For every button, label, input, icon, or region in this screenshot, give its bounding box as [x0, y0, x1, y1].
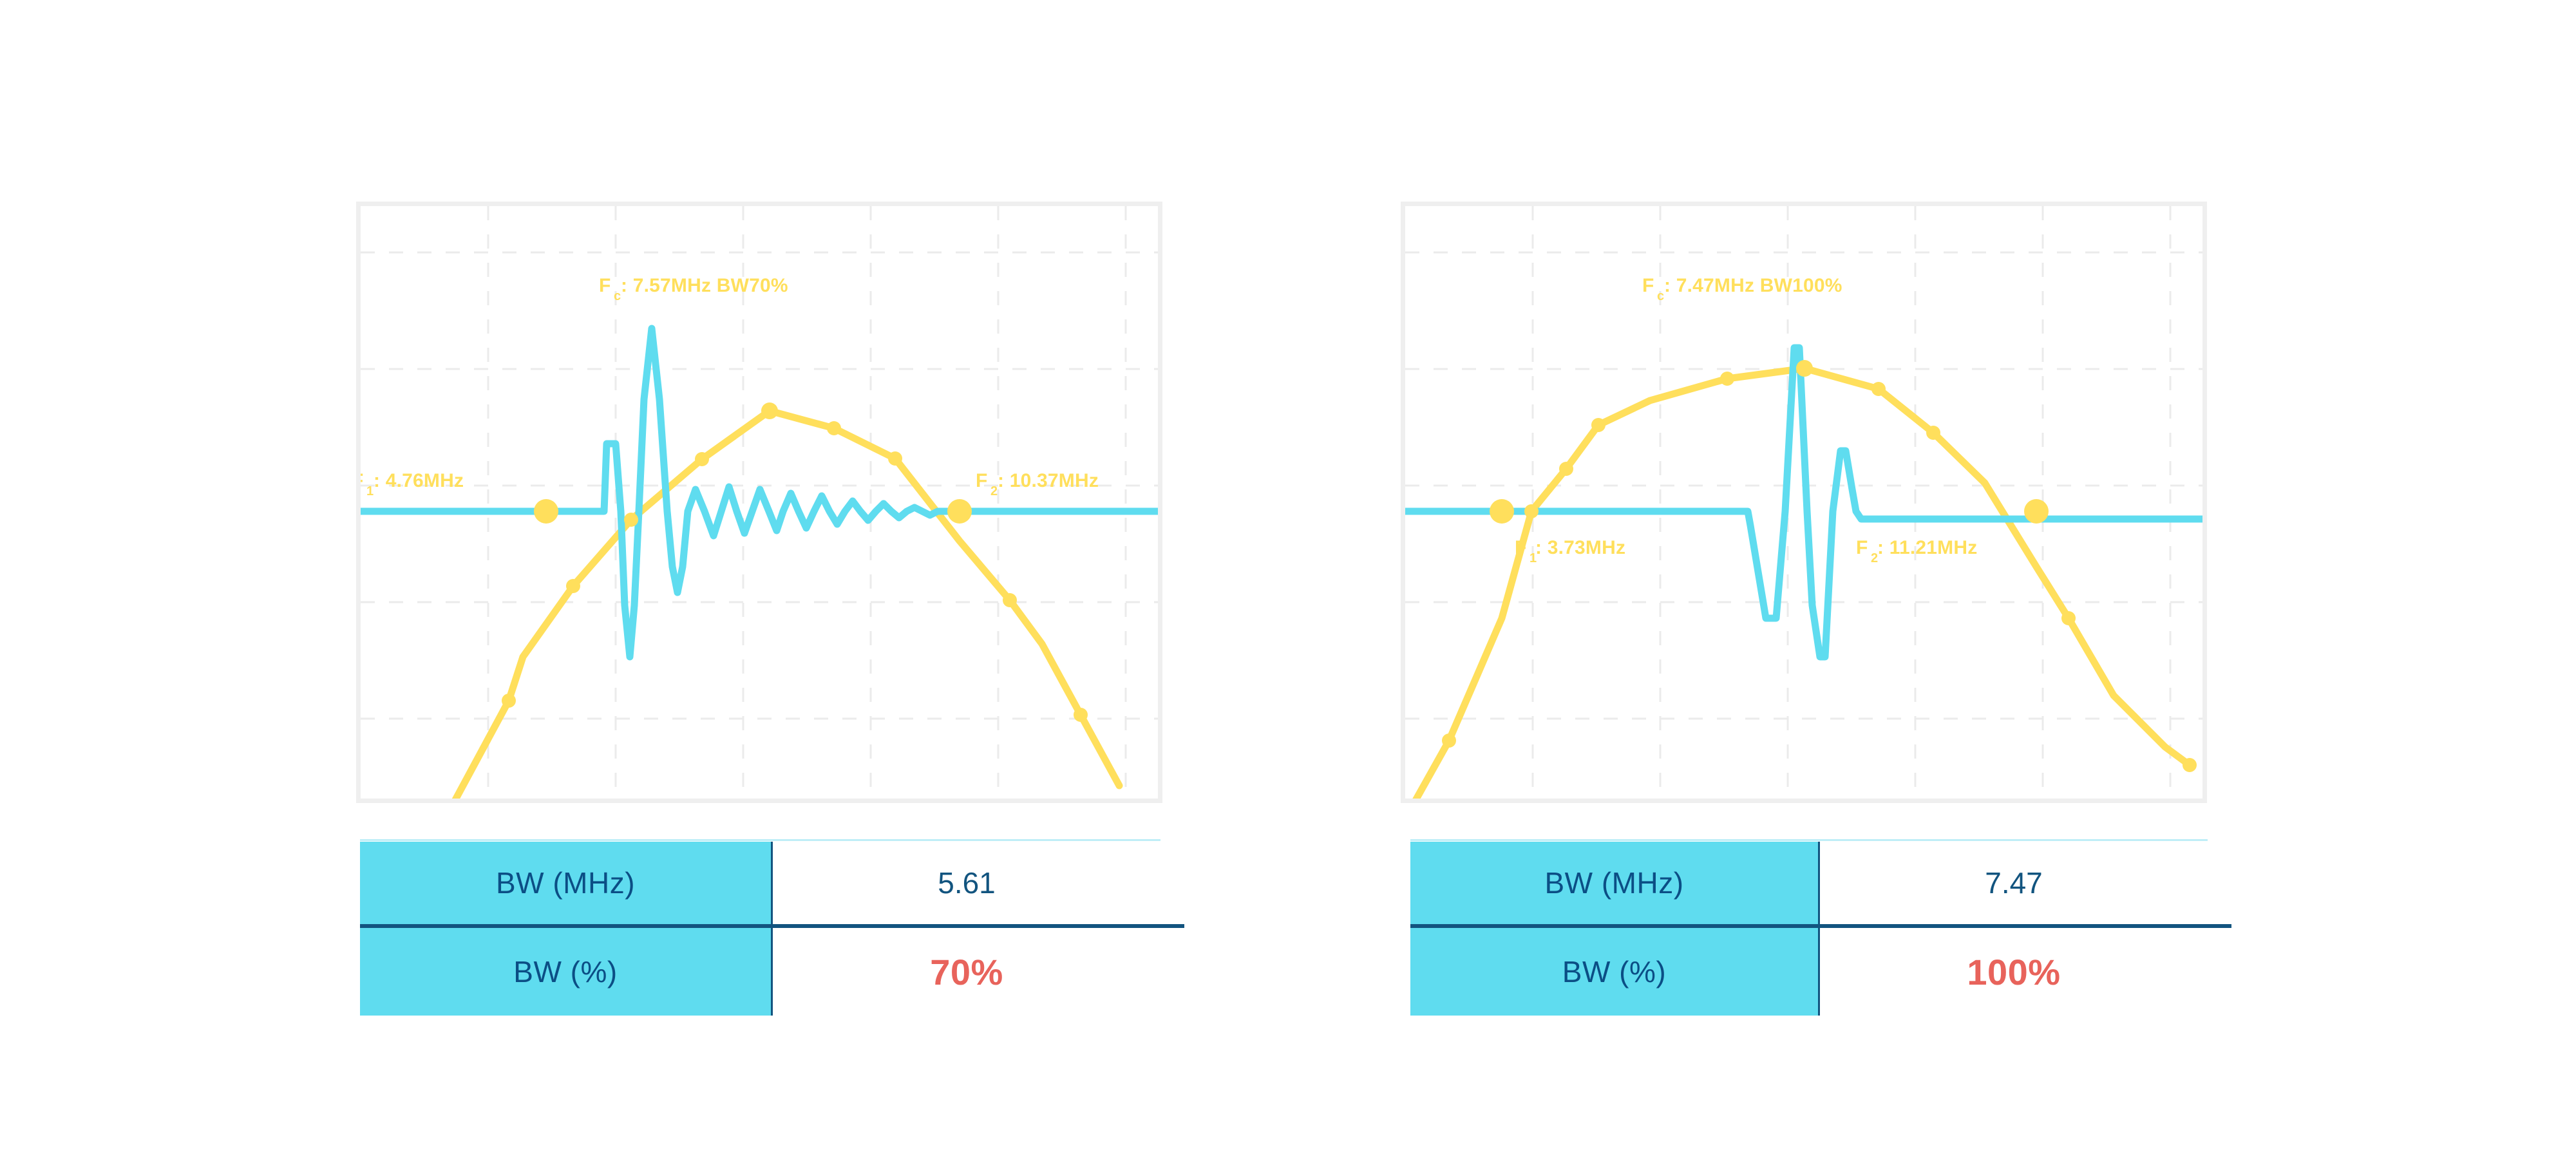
waveform-curve-left [361, 328, 1158, 657]
annotation-f1-left: F 1 : 4.76MHz [361, 470, 464, 498]
table-row-bw-mhz-right: BW (MHz) 7.47 [1410, 842, 2208, 924]
spectrum-curve-left [451, 411, 1119, 799]
marker-f2-left [947, 499, 972, 524]
chart-panel-right: F c : 7.47MHz BW100% F 1 : 3.73MHz F 2 :… [1401, 202, 2207, 803]
table-value-bw-mhz-left: 5.61 [771, 842, 1160, 924]
annotation-f2-right-text: : 11.21MHz [1877, 537, 1977, 558]
chart-panel-left: F c : 7.57MHz BW70% F 1 : 4.76MHz F 2 : … [356, 202, 1162, 803]
annotation-fc-right-prefix: F [1642, 275, 1654, 296]
waveform-curve-right [1405, 348, 2202, 657]
marker-f1-left [534, 499, 558, 524]
chart-svg-right: F c : 7.47MHz BW100% F 1 : 3.73MHz F 2 :… [1405, 206, 2202, 799]
table-label-bw-percent-right: BW (%) [1410, 928, 1818, 1016]
annotation-fc-left-text: : 7.57MHz BW70% [621, 275, 788, 296]
table-value-bw-mhz-right: 7.47 [1818, 842, 2208, 924]
annotation-fc-right-subscript: c [1657, 289, 1664, 303]
table-value-bw-percent-right: 100% [1818, 928, 2208, 1016]
table-label-text: BW (MHz) [1544, 865, 1683, 900]
table-row-bw-mhz-left: BW (MHz) 5.61 [360, 842, 1160, 924]
bw-table-left: BW (MHz) 5.61 BW (%) 70% [360, 839, 1191, 1045]
annotation-fc-left-prefix: F [599, 275, 611, 296]
annotation-f2-right-prefix: F [1856, 537, 1868, 558]
table-label-bw-mhz-right: BW (MHz) [1410, 842, 1818, 924]
chart-plot-area-right: F c : 7.47MHz BW100% F 1 : 3.73MHz F 2 :… [1405, 206, 2202, 799]
spectrum-markers-right [1442, 360, 2197, 772]
table-label-bw-percent-left: BW (%) [360, 928, 771, 1016]
annotation-fc-left: F c : 7.57MHz BW70% [599, 275, 788, 303]
table-value-bw-percent-left: 70% [771, 928, 1160, 1016]
table-value-text: 5.61 [938, 865, 996, 900]
annotation-fc-left-subscript: c [614, 289, 621, 303]
chart-plot-area-left: F c : 7.57MHz BW70% F 1 : 4.76MHz F 2 : … [361, 206, 1158, 799]
table-top-rule-left [360, 839, 1160, 841]
marker-f1-right [1490, 499, 1514, 524]
annotation-f2-left-text: : 10.37MHz [998, 470, 1099, 491]
table-label-text: BW (%) [1562, 954, 1666, 989]
table-value-text: 100% [1967, 951, 2060, 993]
table-top-rule-right [1410, 839, 2208, 841]
table-label-bw-mhz-left: BW (MHz) [360, 842, 771, 924]
figure-canvas: F c : 7.57MHz BW70% F 1 : 4.76MHz F 2 : … [0, 0, 2576, 1154]
chart-svg-left: F c : 7.57MHz BW70% F 1 : 4.76MHz F 2 : … [361, 206, 1158, 799]
annotation-f1-left-subscript: 1 [366, 484, 374, 498]
table-value-text: 70% [930, 951, 1003, 993]
annotation-f1-left-text: : 4.76MHz [374, 470, 464, 491]
annotation-f2-left: F 2 : 10.37MHz [976, 470, 1099, 498]
marker-f2-right [2024, 499, 2049, 524]
annotation-f2-right: F 2 : 11.21MHz [1856, 537, 1977, 565]
table-label-text: BW (MHz) [496, 865, 635, 900]
table-value-text: 7.47 [1985, 865, 2043, 900]
annotation-fc-right-text: : 7.47MHz BW100% [1664, 275, 1842, 296]
annotation-f1-right: F 1 : 3.73MHz [1515, 537, 1625, 565]
annotation-f2-left-subscript: 2 [990, 484, 998, 498]
table-row-bw-percent-right: BW (%) 100% [1410, 928, 2208, 1016]
annotation-f1-right-text: : 3.73MHz [1535, 537, 1625, 558]
annotation-f2-left-prefix: F [976, 470, 988, 491]
table-row-bw-percent-left: BW (%) 70% [360, 928, 1160, 1016]
table-label-text: BW (%) [513, 954, 617, 989]
annotation-f1-right-prefix: F [1515, 537, 1527, 558]
annotation-fc-right: F c : 7.47MHz BW100% [1642, 275, 1842, 303]
bw-table-right: BW (MHz) 7.47 BW (%) 100% [1410, 839, 2241, 1045]
annotation-f1-left-prefix: F [361, 470, 364, 491]
